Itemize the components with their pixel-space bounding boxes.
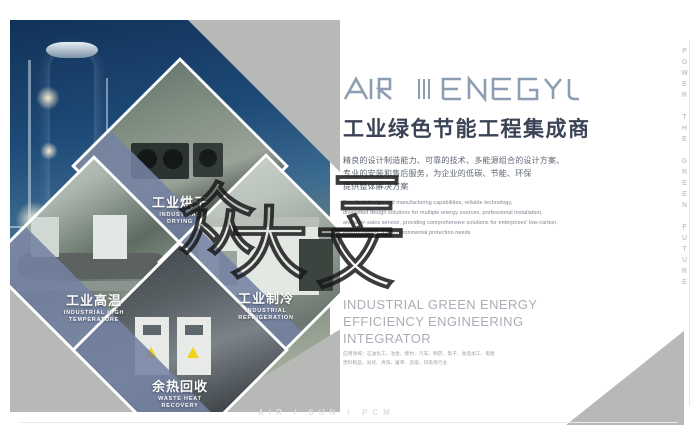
intro-cn-line-1: 精良的设计制造能力、可靠的技术、多能源组合的设计方案、	[343, 155, 643, 168]
intro-english-paragraph: Excellent design and manufacturing capab…	[343, 198, 653, 238]
intro-cn-line-3: 提供整体解决方案	[343, 181, 643, 194]
intro-chinese-paragraph: 精良的设计制造能力、可靠的技术、多能源组合的设计方案、 专业的安装和售后服务，为…	[343, 155, 643, 194]
pipe-icon	[28, 60, 31, 235]
three-bars-icon	[416, 76, 432, 102]
intro-cn-line-2: 专业的安装和售后服务，为企业的低碳、节能、环保	[343, 168, 643, 181]
energy-wordmark-icon	[441, 76, 581, 102]
air-wordmark-icon	[343, 76, 407, 102]
light-glow-icon	[36, 86, 60, 110]
tagline-line-2: EFFICIENCY ENGINEERING	[343, 313, 613, 330]
tagline-line-3: INTEGRATOR	[343, 330, 613, 347]
intro-en-line-4: energy-saving, and environmental protect…	[343, 228, 653, 238]
tagline-line-1: INDUSTRIAL GREEN ENERGY	[343, 296, 613, 313]
intro-en-line-1: Excellent design and manufacturing capab…	[343, 198, 653, 208]
poster-root: 工业烘干 INDUSTRIAL DRYING 工业高温	[0, 0, 700, 435]
content-column: 工业绿色节能工程集成商 精良的设计制造能力、可靠的技术、多能源组合的设计方案、 …	[343, 10, 673, 412]
footer-brand-mark: AIR / SUN / PCM	[258, 408, 395, 417]
light-glow-icon	[40, 142, 58, 160]
poster-canvas: 工业烘干 INDUSTRIAL DRYING 工业高温	[10, 10, 692, 425]
tower-cap-icon	[46, 42, 98, 58]
applications-line-2: 塑料制品、光伏、清洗、屠宰、造纸、印染等行业	[343, 359, 611, 368]
footer-divider	[20, 422, 678, 423]
rail-divider	[689, 40, 690, 406]
brand-logo[interactable]	[343, 72, 581, 106]
tagline-english: INDUSTRIAL GREEN ENERGY EFFICIENCY ENGIN…	[343, 296, 613, 347]
intro-en-line-2: diversified design solutions for multipl…	[343, 208, 653, 218]
image-collage: 工业烘干 INDUSTRIAL DRYING 工业高温	[10, 10, 340, 412]
applications-list: 应用领域：石油化工、冶金、建材、汽车、制药、电子、食品加工、电镀 塑料制品、光伏…	[343, 350, 611, 367]
intro-en-line-3: and after-sales service, providing compr…	[343, 218, 653, 228]
applications-line-1: 应用领域：石油化工、冶金、建材、汽车、制药、电子、食品加工、电镀	[343, 350, 611, 359]
page-title: 工业绿色节能工程集成商	[343, 118, 643, 142]
